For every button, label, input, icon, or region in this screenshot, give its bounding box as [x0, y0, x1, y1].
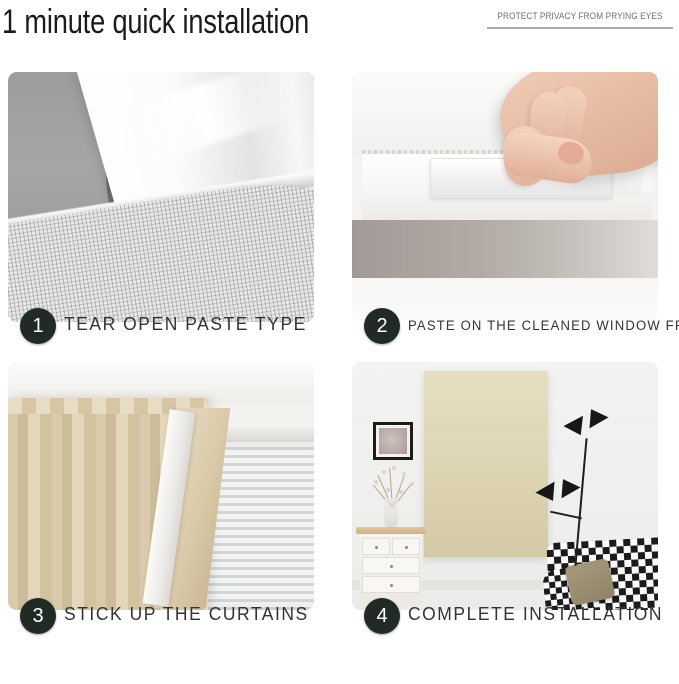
step-panel-2: 2 PASTE ON THE CLEANED WINDOW FRAME: [352, 72, 658, 358]
drawer-knob: [405, 546, 408, 549]
step-3-image: [8, 362, 314, 610]
step-4-image: [352, 362, 658, 610]
flower-bud: [399, 490, 403, 494]
step-2-caption-row: 2 PASTE ON THE CLEANED WINDOW FRAME: [352, 308, 658, 354]
step-3-caption-row: 3 STICK UP THE CURTAINS: [8, 598, 314, 644]
floor-lamp-arm: [550, 511, 582, 520]
tagline-text: PROTECT PRIVACY FROM PRYING EYES: [494, 10, 665, 23]
flower-bud: [402, 472, 406, 476]
tagline-underline-divider: [487, 27, 673, 29]
picture-artwork: [379, 428, 407, 454]
step-panel-3: 3 STICK UP THE CURTAINS: [8, 362, 314, 648]
step-badge-2: 2: [364, 308, 400, 344]
steps-grid: 1 TEAR OPEN PASTE TYPE 2: [0, 60, 679, 660]
picture-mat: [376, 425, 410, 457]
paste-on-frame-illustration: [352, 72, 658, 320]
flower-bud: [392, 466, 396, 470]
wall-picture-frame: [373, 422, 413, 460]
wall-color-band: [352, 220, 658, 278]
drawer-knob: [390, 584, 393, 587]
page-title: 1 minute quick installation: [2, 0, 309, 44]
finished-room-illustration: [352, 362, 658, 610]
page-header: 1 minute quick installation PROTECT PRIV…: [0, 0, 679, 60]
step-1-image: [8, 72, 314, 322]
dresser-wood-top: [356, 527, 426, 534]
step-badge-1: 1: [20, 308, 56, 344]
drawer-knob: [375, 546, 378, 549]
step-1-caption: TEAR OPEN PASTE TYPE: [64, 314, 307, 335]
step-4-caption: COMPLETE INSTALLATION: [408, 604, 663, 625]
step-badge-3: 3: [20, 598, 56, 634]
step-panel-4: 4 COMPLETE INSTALLATION: [352, 362, 658, 648]
flower-bud: [386, 488, 390, 492]
step-2-caption: PASTE ON THE CLEANED WINDOW FRAME: [408, 318, 679, 333]
drawer-knob: [390, 565, 393, 568]
stick-curtain-illustration: [8, 362, 314, 610]
step-badge-4: 4: [364, 598, 400, 634]
tape-peel-illustration: [8, 72, 314, 322]
step-3-caption: STICK UP THE CURTAINS: [64, 604, 309, 625]
step-panel-1: 1 TEAR OPEN PASTE TYPE: [8, 72, 314, 358]
step-4-caption-row: 4 COMPLETE INSTALLATION: [352, 598, 658, 644]
flower-bud: [382, 470, 386, 474]
glass-vase: [384, 498, 398, 528]
step-1-caption-row: 1 TEAR OPEN PASTE TYPE: [8, 308, 314, 354]
tagline-block: PROTECT PRIVACY FROM PRYING EYES: [487, 10, 673, 29]
flower-bud: [374, 480, 378, 484]
installed-blackout-shade: [424, 371, 548, 557]
step-2-image: [352, 72, 658, 320]
flower-bud: [410, 482, 414, 486]
